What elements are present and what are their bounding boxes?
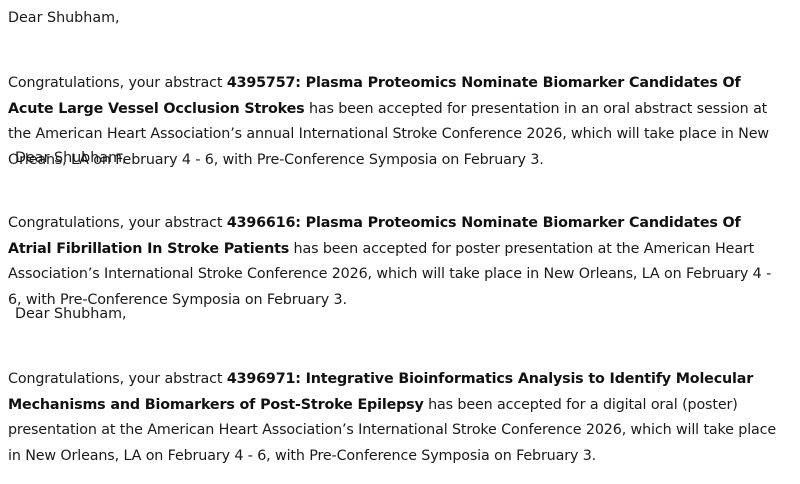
acceptance-paragraph: Congratulations, your abstract 4396616: … [8,211,786,313]
paragraph-spacer [15,172,795,198]
acceptance-paragraph: Congratulations, your abstract 4396971: … [8,367,784,469]
paragraph-spacer [15,328,795,354]
greeting-line: Dear Shubham, [8,6,792,32]
paragraph-intro-text: Congratulations, your abstract [8,371,227,387]
acceptance-block: Dear Shubham, Congratulations, your abst… [15,146,795,328]
acceptance-block: Dear Shubham, Congratulations, your abst… [15,302,795,484]
paragraph-intro-text: Congratulations, your abstract [8,215,227,231]
paragraph-intro-text: Congratulations, your abstract [8,75,227,91]
document-page: Dear Shubham, Congratulations, your abst… [0,0,800,470]
paragraph-spacer [8,32,792,58]
greeting-line: Dear Shubham, [15,146,795,172]
greeting-line: Dear Shubham, [15,302,795,328]
